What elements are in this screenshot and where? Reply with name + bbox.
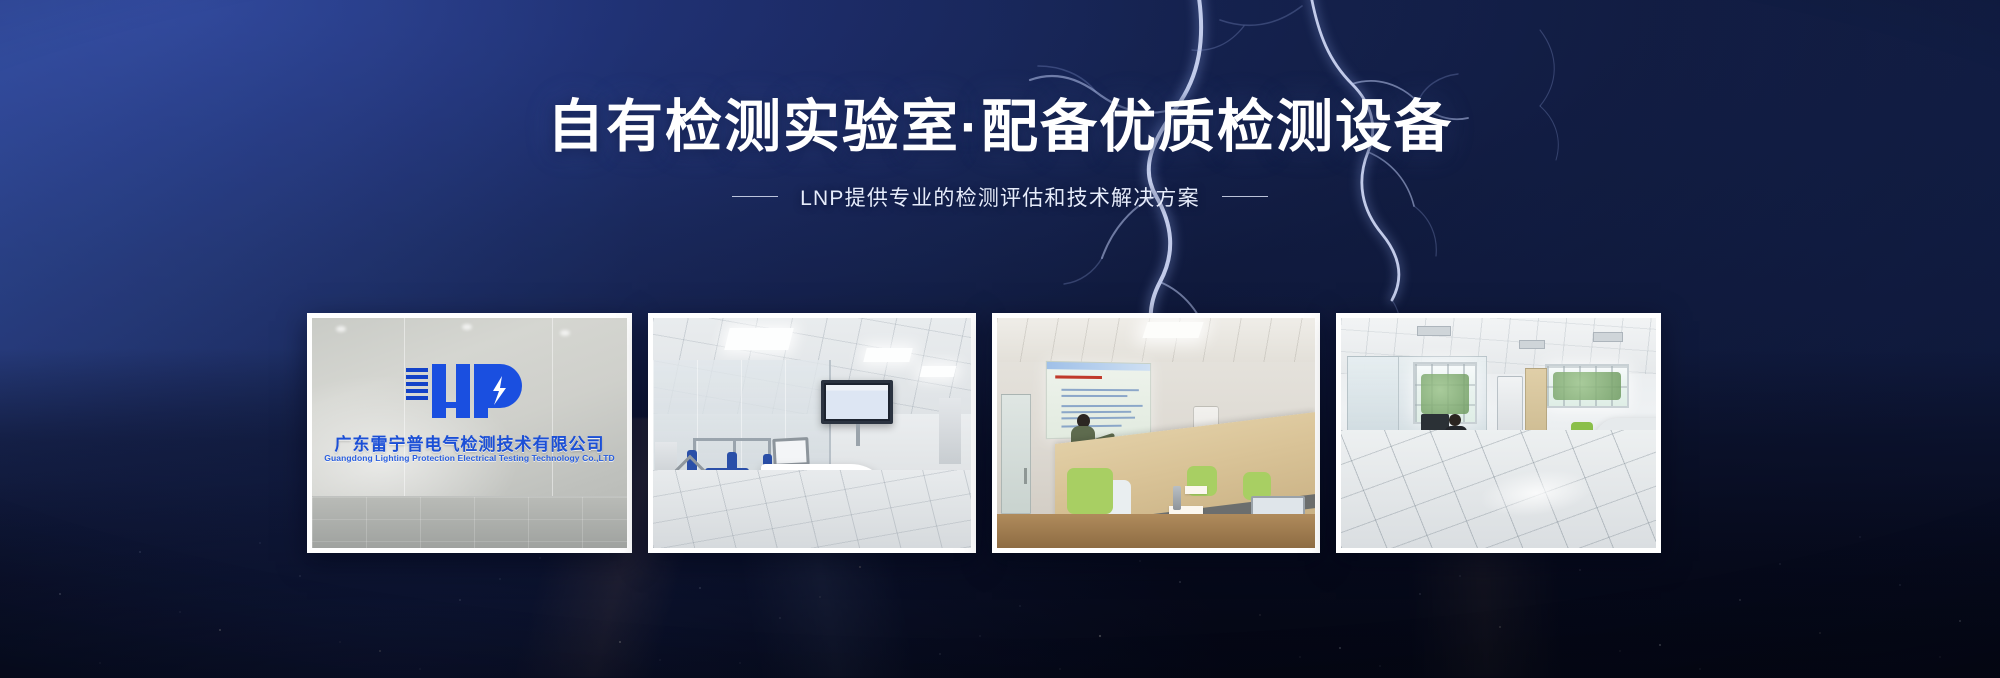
photo-high-voltage-laboratory [653,318,971,548]
lnp-logo-icon [406,362,534,420]
photo-gallery: 广东雷宁普电气检测技术有限公司 Guangdong Lighting Prote… [307,313,1661,553]
photo-office-area [1341,318,1656,548]
gallery-item-laboratory[interactable] [648,313,976,553]
photo-meeting-room [997,318,1315,548]
gallery-item-office[interactable] [1336,313,1661,553]
wall-display-icon [821,380,893,424]
company-name-cn: 广东雷宁普电气检测技术有限公司 [335,430,605,455]
photo-lobby-sign: 广东雷宁普电气检测技术有限公司 Guangdong Lighting Prote… [312,318,627,548]
gallery-item-meeting-room[interactable] [992,313,1320,553]
hero-banner: 自有检测实验室·配备优质检测设备 LNP提供专业的检测评估和技术解决方案 [0,0,2000,678]
company-name-en: Guangdong Lighting Protection Electrical… [324,453,615,463]
gallery-item-lobby-sign[interactable]: 广东雷宁普电气检测技术有限公司 Guangdong Lighting Prote… [307,313,632,553]
projection-screen [1046,361,1151,439]
